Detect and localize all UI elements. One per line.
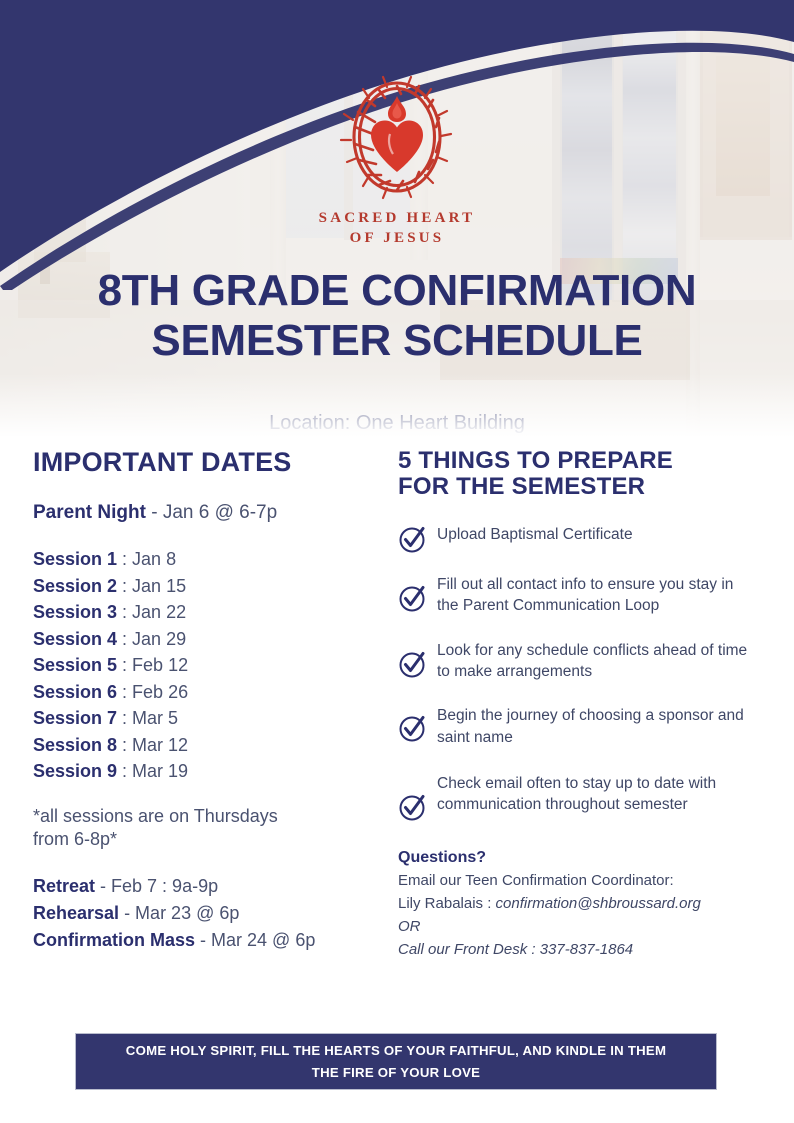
prayer-banner-text: COME HOLY SPIRIT, FILL THE HEARTS OF YOU… (112, 1040, 680, 1083)
session-row: Session 6 : Feb 26 (33, 679, 385, 705)
title-line-1: 8TH GRADE CONFIRMATION (98, 266, 697, 315)
session-label: Session 1 (33, 549, 117, 569)
session-value: : Mar 5 (117, 708, 178, 728)
check-circle-icon (398, 524, 428, 554)
closing-event-value: - Mar 24 @ 6p (195, 930, 315, 950)
session-label: Session 2 (33, 576, 117, 596)
closing-event-value: - Feb 7 : 9a-9p (95, 876, 218, 896)
logo-line-1: SACRED HEART (0, 208, 794, 228)
important-dates-column: IMPORTANT DATES Parent Night - Jan 6 @ 6… (33, 448, 385, 953)
checklist-item: Look for any schedule conflicts ahead of… (398, 639, 750, 683)
front-desk-phone[interactable]: Call our Front Desk : 337-837-1864 (398, 939, 750, 962)
check-circle-icon (398, 649, 428, 679)
closing-event-row: Rehearsal - Mar 23 @ 6p (33, 900, 385, 927)
hero-section: SACRED HEART OF JESUS 8TH GRADE CONFIRMA… (0, 0, 794, 443)
checklist-item-text: Check email often to stay up to date wit… (437, 772, 750, 816)
checklist-item-text: Look for any schedule conflicts ahead of… (437, 639, 750, 683)
session-row: Session 8 : Mar 12 (33, 732, 385, 758)
prepare-heading: 5 THINGS TO PREPARE FOR THE SEMESTER (398, 448, 750, 501)
closing-event-label: Confirmation Mass (33, 930, 195, 950)
logo: SACRED HEART OF JESUS (0, 72, 794, 249)
check-circle-icon (398, 713, 428, 743)
important-dates-heading: IMPORTANT DATES (33, 448, 385, 478)
sacred-heart-logo-icon (333, 72, 461, 202)
session-value: : Jan 22 (117, 602, 186, 622)
coordinator-email[interactable]: confirmation@shbroussard.org (496, 895, 701, 912)
session-label: Session 4 (33, 629, 117, 649)
session-value: : Jan 8 (117, 549, 176, 569)
prayer-banner: COME HOLY SPIRIT, FILL THE HEARTS OF YOU… (75, 1033, 717, 1090)
questions-heading: Questions? (398, 846, 750, 870)
sessions-list: Session 1 : Jan 8 Session 2 : Jan 15 Ses… (33, 546, 385, 784)
questions-or: OR (398, 916, 750, 939)
poster: SACRED HEART OF JESUS 8TH GRADE CONFIRMA… (0, 0, 794, 1123)
session-row: Session 4 : Jan 29 (33, 626, 385, 652)
title-line-2: SEMESTER SCHEDULE (0, 316, 794, 366)
questions-block: Questions? Email our Teen Confirmation C… (398, 846, 750, 962)
session-value: : Mar 19 (117, 761, 188, 781)
session-value: : Feb 12 (117, 655, 188, 675)
session-label: Session 6 (33, 682, 117, 702)
logo-line-2: OF JESUS (0, 228, 794, 248)
session-row: Session 2 : Jan 15 (33, 573, 385, 599)
checklist-item: Begin the journey of choosing a sponsor … (398, 704, 750, 748)
coordinator-name: Lily Rabalais : (398, 895, 496, 912)
questions-contact-line: Lily Rabalais : confirmation@shbroussard… (398, 893, 750, 916)
session-value: : Jan 15 (117, 576, 186, 596)
session-row: Session 1 : Jan 8 (33, 546, 385, 572)
session-label: Session 9 (33, 761, 117, 781)
checklist-item: Upload Baptismal Certificate (398, 523, 750, 554)
prepare-column: 5 THINGS TO PREPARE FOR THE SEMESTER Upl… (398, 448, 750, 962)
closing-event-label: Retreat (33, 876, 95, 896)
session-label: Session 7 (33, 708, 117, 728)
sessions-note-line-2: from 6-8p* (33, 828, 385, 851)
closing-event-row: Retreat - Feb 7 : 9a-9p (33, 873, 385, 900)
prepare-checklist: Upload Baptismal Certificate Fill out al… (398, 523, 750, 822)
session-value: : Mar 12 (117, 735, 188, 755)
session-label: Session 3 (33, 602, 117, 622)
closing-event-label: Rehearsal (33, 903, 119, 923)
session-row: Session 3 : Jan 22 (33, 599, 385, 625)
session-value: : Feb 26 (117, 682, 188, 702)
checklist-item: Fill out all contact info to ensure you … (398, 573, 750, 617)
content-columns: IMPORTANT DATES Parent Night - Jan 6 @ 6… (0, 448, 794, 1018)
sessions-note: *all sessions are on Thursdays from 6-8p… (33, 805, 385, 852)
session-row: Session 5 : Feb 12 (33, 652, 385, 678)
session-row: Session 9 : Mar 19 (33, 758, 385, 784)
questions-line-1: Email our Teen Confirmation Coordinator: (398, 870, 750, 893)
session-row: Session 7 : Mar 5 (33, 705, 385, 731)
closing-event-row: Confirmation Mass - Mar 24 @ 6p (33, 927, 385, 954)
prayer-line-1: COME HOLY SPIRIT, FILL THE HEARTS OF YOU… (126, 1043, 666, 1058)
logo-wordmark: SACRED HEART OF JESUS (0, 208, 794, 249)
session-label: Session 5 (33, 655, 117, 675)
closing-events-list: Retreat - Feb 7 : 9a-9p Rehearsal - Mar … (33, 873, 385, 953)
session-label: Session 8 (33, 735, 117, 755)
checklist-item-text: Fill out all contact info to ensure you … (437, 573, 750, 617)
page-title: 8TH GRADE CONFIRMATION SEMESTER SCHEDULE (0, 266, 794, 366)
checklist-item: Check email often to stay up to date wit… (398, 772, 750, 822)
parent-night-row: Parent Night - Jan 6 @ 6-7p (33, 502, 385, 525)
prayer-line-2: THE FIRE OF YOUR LOVE (312, 1065, 480, 1080)
closing-event-value: - Mar 23 @ 6p (119, 903, 239, 923)
checklist-item-text: Upload Baptismal Certificate (437, 523, 633, 545)
check-circle-icon (398, 583, 428, 613)
parent-night-label: Parent Night (33, 502, 146, 523)
parent-night-value: - Jan 6 @ 6-7p (146, 502, 277, 523)
sessions-note-line-1: *all sessions are on Thursdays (33, 805, 385, 828)
prepare-heading-line-1: 5 THINGS TO PREPARE (398, 448, 750, 474)
checklist-item-text: Begin the journey of choosing a sponsor … (437, 704, 750, 748)
session-value: : Jan 29 (117, 629, 186, 649)
check-circle-icon (398, 792, 428, 822)
prepare-heading-line-2: FOR THE SEMESTER (398, 474, 750, 500)
